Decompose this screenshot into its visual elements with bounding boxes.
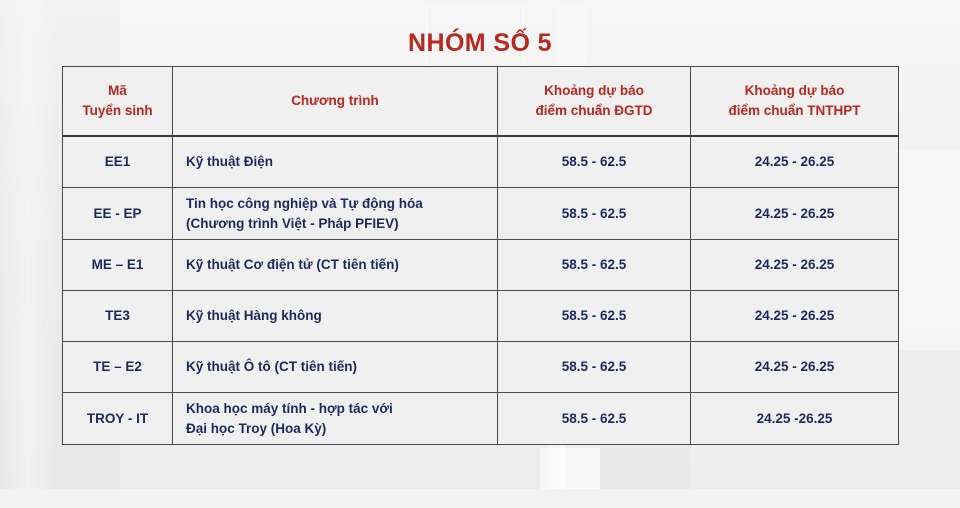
cell-dgtd: 58.5 - 62.5 xyxy=(498,342,691,393)
column-header-tnthpt-line2: điểm chuẩn TNTHPT xyxy=(691,101,898,121)
cell-dgtd: 58.5 - 62.5 xyxy=(498,136,691,188)
column-header-dgtd-line1: Khoảng dự báo xyxy=(498,81,690,101)
cell-program: Tin học công nghiệp và Tự động hóa (Chươ… xyxy=(173,188,498,240)
table-row: TE – E2 Kỹ thuật Ô tô (CT tiên tiến) 58.… xyxy=(63,342,899,393)
watermark-block xyxy=(600,446,690,489)
column-header-code-line1: Mã xyxy=(63,81,172,101)
cell-tnthpt: 24.25 - 26.25 xyxy=(691,240,899,291)
cell-dgtd: 58.5 - 62.5 xyxy=(498,291,691,342)
cell-program-line1: Kỹ thuật Điện xyxy=(186,152,491,171)
column-header-program: Chương trình xyxy=(173,67,498,137)
cell-program-line1: Tin học công nghiệp và Tự động hóa xyxy=(186,194,491,213)
watermark-block xyxy=(540,448,600,489)
cell-tnthpt: 24.25 -26.25 xyxy=(691,393,899,445)
page-title: NHÓM SỐ 5 xyxy=(0,29,960,58)
cell-code: TROY - IT xyxy=(63,393,173,445)
column-header-program-label: Chương trình xyxy=(173,91,497,111)
table-header: Mã Tuyển sinh Chương trình Khoảng dự báo… xyxy=(63,67,899,137)
table-row: ME – E1 Kỹ thuật Cơ điện tử (CT tiên tiế… xyxy=(63,240,899,291)
cell-program-line1: Kỹ thuật Ô tô (CT tiên tiến) xyxy=(186,357,491,376)
cell-program: Kỹ thuật Điện xyxy=(173,136,498,188)
cell-program-line1: Khoa học máy tính - hợp tác với xyxy=(186,399,491,418)
cell-program: Kỹ thuật Hàng không xyxy=(173,291,498,342)
table-row: EE - EP Tin học công nghiệp và Tự động h… xyxy=(63,188,899,240)
column-header-tnthpt-line1: Khoảng dự báo xyxy=(691,81,898,101)
admission-score-table: Mã Tuyển sinh Chương trình Khoảng dự báo… xyxy=(62,66,899,445)
cell-tnthpt: 24.25 - 26.25 xyxy=(691,136,899,188)
column-header-dgtd-line2: điểm chuẩn ĐGTD xyxy=(498,101,690,121)
cell-dgtd: 58.5 - 62.5 xyxy=(498,188,691,240)
column-header-code-line2: Tuyển sinh xyxy=(63,101,172,121)
table-row: TROY - IT Khoa học máy tính - hợp tác vớ… xyxy=(63,393,899,445)
table-body: EE1 Kỹ thuật Điện 58.5 - 62.5 24.25 - 26… xyxy=(63,136,899,445)
cell-program: Kỹ thuật Cơ điện tử (CT tiên tiến) xyxy=(173,240,498,291)
cell-program-line2: Đại học Troy (Hoa Kỳ) xyxy=(186,419,491,438)
cell-program: Khoa học máy tính - hợp tác với Đại học … xyxy=(173,393,498,445)
cell-program-line2: (Chương trình Việt - Pháp PFIEV) xyxy=(186,214,491,233)
admission-table-container: Mã Tuyển sinh Chương trình Khoảng dự báo… xyxy=(62,66,898,445)
column-header-dgtd: Khoảng dự báo điểm chuẩn ĐGTD xyxy=(498,67,691,137)
cell-code: ME – E1 xyxy=(63,240,173,291)
watermark-block xyxy=(898,150,960,350)
cell-tnthpt: 24.25 - 26.25 xyxy=(691,342,899,393)
cell-dgtd: 58.5 - 62.5 xyxy=(498,393,691,445)
cell-code: EE - EP xyxy=(63,188,173,240)
table-row: EE1 Kỹ thuật Điện 58.5 - 62.5 24.25 - 26… xyxy=(63,136,899,188)
cell-tnthpt: 24.25 - 26.25 xyxy=(691,291,899,342)
cell-dgtd: 58.5 - 62.5 xyxy=(498,240,691,291)
cell-program-line1: Kỹ thuật Cơ điện tử (CT tiên tiến) xyxy=(186,255,491,274)
cell-code: TE – E2 xyxy=(63,342,173,393)
cell-tnthpt: 24.25 - 26.25 xyxy=(691,188,899,240)
cell-code: TE3 xyxy=(63,291,173,342)
column-header-code: Mã Tuyển sinh xyxy=(63,67,173,137)
cell-code: EE1 xyxy=(63,136,173,188)
table-header-row: Mã Tuyển sinh Chương trình Khoảng dự báo… xyxy=(63,67,899,137)
cell-program-line1: Kỹ thuật Hàng không xyxy=(186,306,491,325)
column-header-tnthpt: Khoảng dự báo điểm chuẩn TNTHPT xyxy=(691,67,899,137)
table-row: TE3 Kỹ thuật Hàng không 58.5 - 62.5 24.2… xyxy=(63,291,899,342)
watermark-block xyxy=(548,442,566,489)
cell-program: Kỹ thuật Ô tô (CT tiên tiến) xyxy=(173,342,498,393)
